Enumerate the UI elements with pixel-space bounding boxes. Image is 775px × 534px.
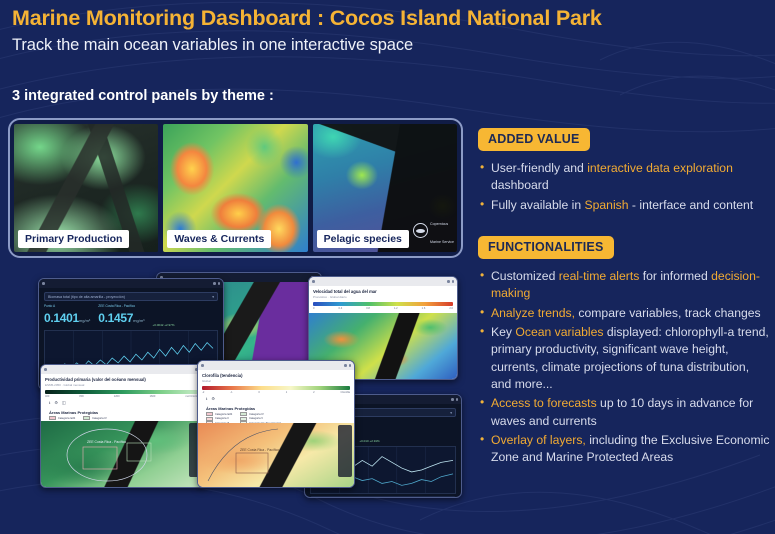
page-subtitle: Track the main ocean variables in one in… bbox=[12, 36, 413, 55]
bullet-text: compare variables, track changes bbox=[575, 306, 761, 320]
legend-label: Categoría Ia/Ib bbox=[58, 417, 75, 420]
map-viewport[interactable]: ZEE Costa Rica - Pacífico bbox=[198, 423, 354, 487]
download-icon[interactable]: ⭳ bbox=[49, 400, 50, 407]
colorbar-legend bbox=[202, 386, 350, 390]
bullet-item: Analyze trends, compare variables, track… bbox=[478, 305, 770, 322]
map-card-label: Waves & Currents bbox=[167, 230, 271, 248]
legend-swatch bbox=[83, 416, 90, 420]
window-menu-icon bbox=[201, 364, 204, 367]
right-content-column: ADDED VALUE User-friendly and interactiv… bbox=[478, 128, 770, 469]
panel-subtitle: Pronóstico · Global diario bbox=[313, 295, 453, 299]
bullet-highlight: real-time alerts bbox=[559, 269, 640, 283]
legend-label: Categoría IV bbox=[249, 413, 264, 416]
legend-item: Categoría Ia/Ib bbox=[49, 416, 75, 420]
legend-title: Áreas Marinas Protegidas bbox=[202, 405, 350, 412]
bullet-item: Key Ocean variables displayed: chlorophy… bbox=[478, 324, 770, 393]
legend-item: Categoría II bbox=[206, 417, 232, 421]
kpi-point-a: Punto A 0.1401mg/m³ bbox=[44, 304, 90, 327]
legend-item: Categoría Ia/Ib bbox=[206, 412, 232, 416]
panel-subtitle: Global bbox=[202, 379, 350, 383]
panel-header: Clorofila (tendencia) Global -2 -1 0 1 2… bbox=[198, 370, 354, 429]
legend-swatch bbox=[206, 412, 213, 416]
section-heading: 3 integrated control panels by theme : bbox=[12, 88, 274, 104]
colorbar-tick: 2.0 bbox=[449, 307, 453, 310]
panel-tool-icons[interactable]: ⭳ ⚙ ◫ bbox=[45, 398, 201, 409]
kpi-unit: mg/m³ bbox=[79, 318, 90, 323]
functionalities-badge: FUNCTIONALITIES bbox=[478, 236, 614, 259]
map-card-label: Pelagic species bbox=[317, 230, 409, 248]
variable-select[interactable]: Biomasa total (tipo de alta amarilla - p… bbox=[44, 292, 218, 301]
window-controls-icon bbox=[344, 364, 351, 367]
colorbar-tick: 2 bbox=[313, 391, 314, 394]
panel-title: Clorofila (tendencia) bbox=[202, 373, 350, 378]
legend-swatch bbox=[206, 417, 213, 421]
colorbar-tick: 1 bbox=[286, 391, 287, 394]
colorbar-tick: 1.2 bbox=[394, 307, 398, 310]
chart-footer[interactable] bbox=[310, 496, 456, 498]
functionalities-bullets: Customized real-time alerts for informed… bbox=[478, 268, 770, 467]
window-titlebar bbox=[309, 277, 457, 286]
copernicus-logo-text: Copernicus Marine Service bbox=[430, 212, 454, 248]
bullet-highlight: Analyze trends, bbox=[491, 306, 575, 320]
map-card-waves-currents[interactable]: Waves & Currents bbox=[163, 124, 307, 252]
legend-label: Categoría Ia/Ib bbox=[215, 413, 232, 416]
window-titlebar bbox=[39, 279, 223, 288]
bullet-text: - interface and content bbox=[629, 198, 754, 212]
legend-item: Categoría IV bbox=[83, 416, 124, 420]
kpi-zee: ZEE Costa Rica - Pacífico 0.1457mg/m³ bbox=[98, 304, 144, 327]
colorbar-tick: 0 bbox=[258, 391, 259, 394]
window-menu-icon bbox=[312, 280, 315, 283]
map-toolbar[interactable] bbox=[338, 425, 352, 477]
bullet-text: Customized bbox=[491, 269, 559, 283]
bullet-item: User-friendly and interactive data explo… bbox=[478, 160, 770, 195]
kpi-label: Punto A bbox=[44, 304, 90, 308]
legend-swatch bbox=[240, 412, 247, 416]
map-card-primary-production[interactable]: Primary Production bbox=[14, 124, 158, 252]
legend-item: Categoría V bbox=[240, 417, 281, 421]
window-menu-icon bbox=[42, 282, 45, 285]
window-controls-icon bbox=[451, 398, 458, 401]
map-viewport[interactable]: ZEE Costa Rica - Pacífico bbox=[41, 421, 205, 487]
map-card-pelagic-species[interactable]: Pelagic species Copernicus Marine Servic… bbox=[313, 124, 457, 252]
bullet-item: Customized real-time alerts for informed… bbox=[478, 268, 770, 303]
colorbar-tick: 400 bbox=[45, 395, 49, 398]
bullet-highlight: Ocean variables bbox=[515, 325, 603, 339]
colorbar-unit: Clorofila bbox=[340, 391, 350, 394]
dashboard-screenshot-collage: Velocidad total del agua del mar Pronóst… bbox=[8, 272, 463, 524]
screenshot-primary-productivity-panel[interactable]: Productividad primaria (valor del océano… bbox=[40, 364, 206, 488]
colorbar-tick: 800 bbox=[79, 395, 83, 398]
window-titlebar bbox=[198, 361, 354, 370]
bullet-highlight: Overlay of layers, bbox=[491, 433, 586, 447]
colorbar-tick: 0.8 bbox=[366, 307, 370, 310]
gear-icon[interactable]: ⚙ bbox=[54, 400, 58, 407]
window-controls-icon bbox=[213, 282, 220, 285]
panel-subtitle: ESM5-2050 · Global mensual bbox=[45, 383, 201, 387]
svg-text:ZEE Costa Rica - Pacífico: ZEE Costa Rica - Pacífico bbox=[240, 448, 279, 452]
chevron-down-icon[interactable]: ▾ bbox=[212, 295, 214, 299]
bullet-item: Fully available in Spanish - interface a… bbox=[478, 197, 770, 214]
bullet-item: Overlay of layers, including the Exclusi… bbox=[478, 432, 770, 467]
bullet-highlight: Access to forecasts bbox=[491, 396, 597, 410]
svg-text:ZEE Costa Rica - Pacífico: ZEE Costa Rica - Pacífico bbox=[87, 440, 126, 444]
colorbar-legend bbox=[313, 302, 453, 306]
map-panels-frame: Primary Production Waves & Currents Pela… bbox=[8, 118, 463, 258]
gear-icon[interactable]: ⚙ bbox=[211, 396, 215, 403]
screenshot-chlorophyll-trend-panel[interactable]: Clorofila (tendencia) Global -2 -1 0 1 2… bbox=[197, 360, 355, 488]
bullet-item: Access to forecasts up to 10 days in adv… bbox=[478, 395, 770, 430]
window-menu-icon bbox=[44, 368, 47, 371]
kpi-delta: +0.010 +2.91% bbox=[359, 439, 379, 443]
legend-label: Categoría V bbox=[249, 417, 263, 420]
copernicus-eye-icon bbox=[413, 223, 428, 238]
window-controls-icon bbox=[447, 280, 454, 283]
kpi-group: Punto A 0.1401mg/m³ ZEE Costa Rica - Pac… bbox=[44, 304, 218, 327]
bullet-text: Fully available in bbox=[491, 198, 584, 212]
copernicus-marine-service-logo: Copernicus Marine Service bbox=[413, 212, 454, 248]
colorbar-tick: 1600 bbox=[150, 395, 156, 398]
page-title: Marine Monitoring Dashboard : Cocos Isla… bbox=[12, 6, 602, 31]
legend-item: Categoría IV bbox=[240, 412, 281, 416]
bullet-text: for informed bbox=[639, 269, 711, 283]
chevron-down-icon[interactable]: ▾ bbox=[450, 411, 452, 415]
kpi-label: ZEE Costa Rica - Pacífico bbox=[98, 304, 144, 308]
colorbar-tick: -1 bbox=[230, 391, 232, 394]
variable-select-value: Biomasa total (tipo de alta amarilla - p… bbox=[48, 295, 125, 299]
map-overlays: ZEE Costa Rica - Pacífico bbox=[41, 421, 205, 487]
panel-tool-icons[interactable]: ⭳ ⚙ bbox=[202, 394, 350, 405]
colorbar-tick: 1.6 bbox=[422, 307, 426, 310]
chart-icon[interactable]: ◫ bbox=[62, 400, 66, 407]
map-card-label: Primary Production bbox=[18, 230, 129, 248]
legend-swatch bbox=[49, 416, 56, 420]
kpi-delta: +0.0042 +2.97% bbox=[153, 323, 175, 327]
kpi-value: 0.1457 bbox=[98, 311, 133, 325]
bullet-highlight: Spanish bbox=[584, 198, 628, 212]
kpi-unit: mg/m³ bbox=[133, 318, 144, 323]
colorbar-tick: 1200 bbox=[114, 395, 120, 398]
legend-title: Áreas Marinas Protegidas bbox=[45, 409, 201, 416]
colorbar-legend bbox=[45, 390, 201, 394]
legend-label: Categoría II bbox=[215, 417, 229, 420]
map-overlays: ZEE Costa Rica - Pacífico bbox=[198, 423, 354, 487]
colorbar-tick: -2 bbox=[202, 391, 204, 394]
colorbar-tick: 0.4 bbox=[339, 307, 343, 310]
legend-label: Categoría IV bbox=[92, 417, 107, 420]
bullet-text: User-friendly and bbox=[491, 161, 587, 175]
bullet-text: dashboard bbox=[491, 178, 549, 192]
added-value-badge: ADDED VALUE bbox=[478, 128, 590, 151]
bullet-text: Key bbox=[491, 325, 515, 339]
kpi-value: 0.1401 bbox=[44, 311, 79, 325]
added-value-bullets: User-friendly and interactive data explo… bbox=[478, 160, 770, 214]
window-titlebar bbox=[41, 365, 205, 374]
colorbar-tick: 0 bbox=[313, 307, 314, 310]
panel-title: Productividad primaria (valor del océano… bbox=[45, 377, 201, 382]
legend-swatch bbox=[240, 417, 247, 421]
panel-title: Velocidad total del agua del mar bbox=[313, 289, 453, 294]
bullet-highlight: interactive data exploration bbox=[587, 161, 733, 175]
functionalities-block: FUNCTIONALITIES Customized real-time ale… bbox=[478, 236, 770, 467]
download-icon[interactable]: ⭳ bbox=[206, 396, 207, 403]
